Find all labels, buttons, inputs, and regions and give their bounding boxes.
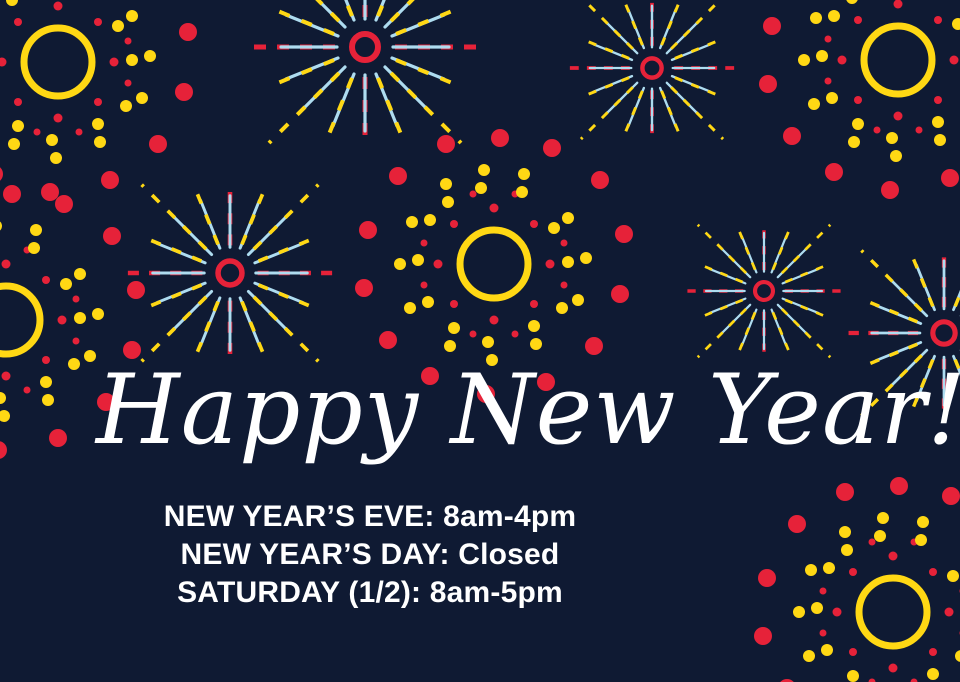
hours-line-saturday: SATURDAY (1/2): 8am-5pm: [0, 574, 740, 612]
text-layer: Happy New Year! NEW YEAR’S EVE: 8am-4pm …: [0, 0, 960, 682]
hours-line-new-years-day: NEW YEAR’S DAY: Closed: [0, 536, 740, 574]
new-year-poster: Happy New Year! NEW YEAR’S EVE: 8am-4pm …: [0, 0, 960, 682]
hours-line-new-years-eve: NEW YEAR’S EVE: 8am-4pm: [0, 498, 740, 536]
hours-block: NEW YEAR’S EVE: 8am-4pm NEW YEAR’S DAY: …: [0, 498, 740, 612]
headline-happy-new-year: Happy New Year!: [96, 360, 696, 461]
